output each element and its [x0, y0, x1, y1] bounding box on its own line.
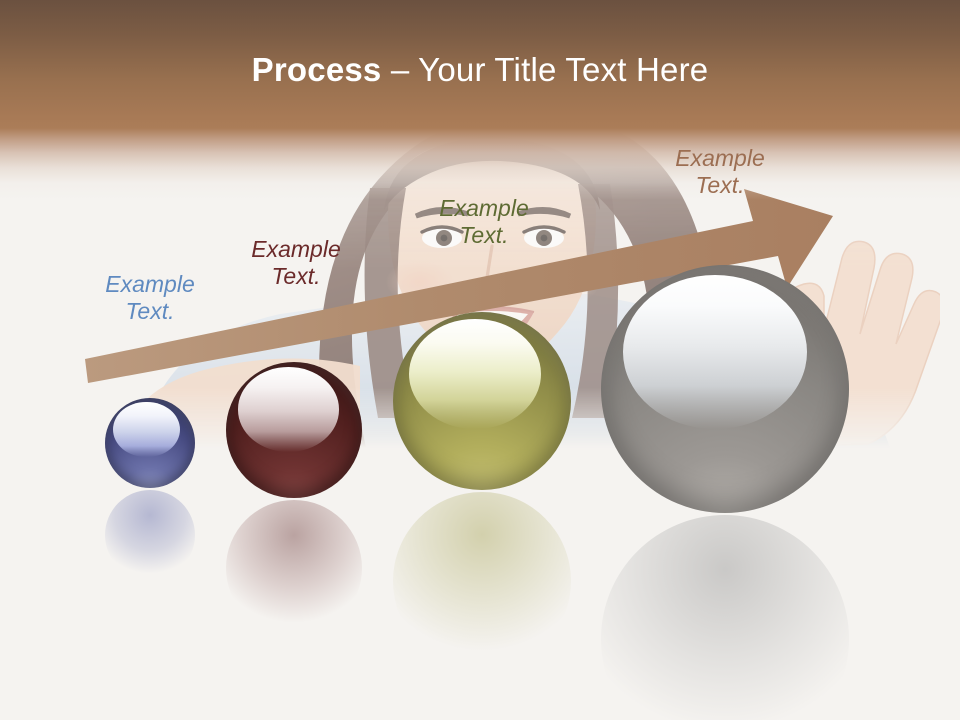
sphere-gloss-4: [623, 275, 807, 429]
slide-canvas: Process – Your Title Text Here Example T…: [0, 0, 960, 720]
sphere-gloss-2: [238, 367, 339, 451]
sphere-gloss-1: [113, 402, 180, 458]
sphere-step-3[interactable]: [393, 312, 571, 490]
header-fade: [0, 128, 960, 200]
label-step-3[interactable]: Example Text.: [419, 195, 549, 248]
page-title: Process – Your Title Text Here: [0, 50, 960, 90]
reflection-step-2: [226, 500, 362, 636]
sphere-gloss-3: [409, 319, 541, 429]
reflection-step-3: [393, 492, 571, 670]
title-rest: – Your Title Text Here: [381, 51, 708, 88]
label-step-1[interactable]: Example Text.: [85, 271, 215, 324]
sphere-step-4[interactable]: [601, 265, 849, 513]
reflection-step-1: [105, 490, 195, 580]
sphere-step-1[interactable]: [105, 398, 195, 488]
title-strong: Process: [252, 51, 382, 88]
sphere-step-2[interactable]: [226, 362, 362, 498]
label-step-2[interactable]: Example Text.: [231, 236, 361, 289]
label-step-4[interactable]: Example Text.: [655, 145, 785, 198]
